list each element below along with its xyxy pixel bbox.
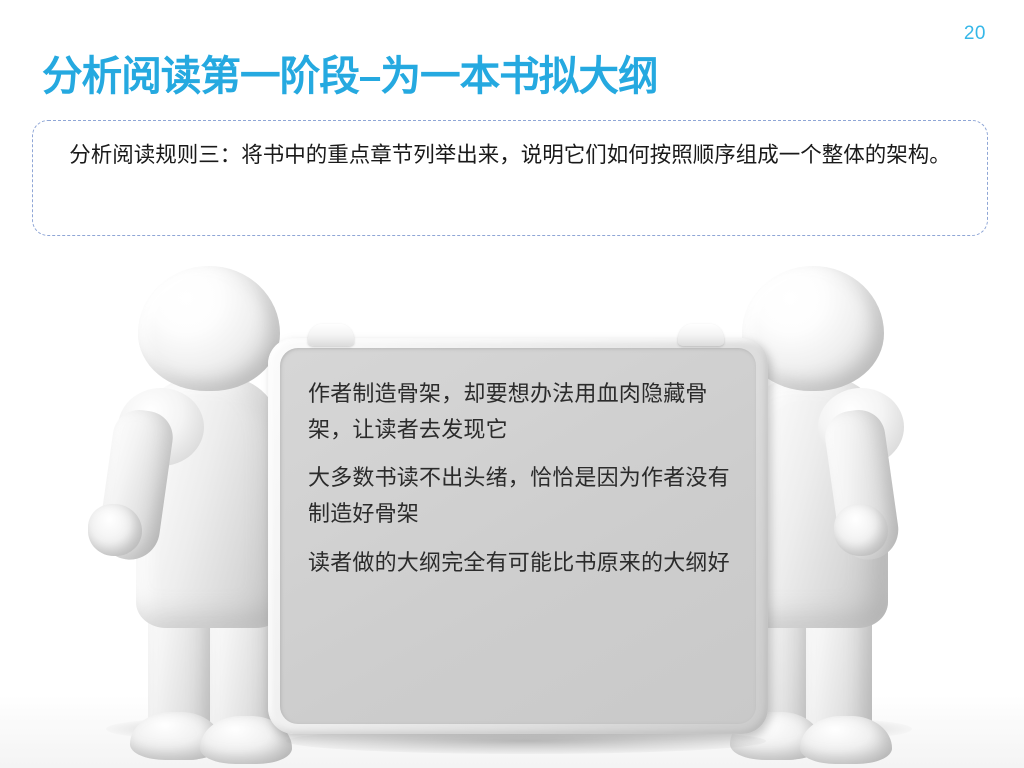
- illustration-stage: 作者制造骨架，却要想办法用血肉隐藏骨架，让读者去发现它 大多数书读不出头绪，恰恰…: [0, 240, 1024, 768]
- whiteboard: 作者制造骨架，却要想办法用血肉隐藏骨架，让读者去发现它 大多数书读不出头绪，恰恰…: [268, 324, 776, 742]
- left-person-head: [138, 266, 280, 391]
- rule-callout-text: 分析阅读规则三：将书中的重点章节列举出来，说明它们如何按照顺序组成一个整体的架构…: [55, 139, 965, 172]
- left-person-hand: [88, 504, 142, 556]
- whiteboard-paragraph: 读者做的大纲完全有可能比书原来的大纲好: [308, 545, 740, 581]
- page-number: 20: [964, 24, 986, 43]
- whiteboard-clip-right: [678, 324, 724, 346]
- right-person-hand: [834, 504, 888, 556]
- page-title: 分析阅读第一阶段–为一本书拟大纲: [42, 54, 658, 99]
- whiteboard-frame: 作者制造骨架，却要想办法用血肉隐藏骨架，让读者去发现它 大多数书读不出头绪，恰恰…: [268, 338, 768, 734]
- whiteboard-clip-left: [308, 324, 354, 346]
- presentation-slide: 20 分析阅读第一阶段–为一本书拟大纲 分析阅读规则三：将书中的重点章节列举出来…: [0, 0, 1024, 768]
- right-person-foot-front: [800, 716, 892, 764]
- whiteboard-paragraph: 作者制造骨架，却要想办法用血肉隐藏骨架，让读者去发现它: [308, 376, 740, 447]
- whiteboard-surface: 作者制造骨架，却要想办法用血肉隐藏骨架，让读者去发现它 大多数书读不出头绪，恰恰…: [280, 348, 756, 724]
- rule-callout-box: 分析阅读规则三：将书中的重点章节列举出来，说明它们如何按照顺序组成一个整体的架构…: [32, 120, 988, 236]
- whiteboard-paragraph: 大多数书读不出头绪，恰恰是因为作者没有制造好骨架: [308, 460, 740, 531]
- whiteboard-text-block: 作者制造骨架，却要想办法用血肉隐藏骨架，让读者去发现它 大多数书读不出头绪，恰恰…: [308, 376, 740, 580]
